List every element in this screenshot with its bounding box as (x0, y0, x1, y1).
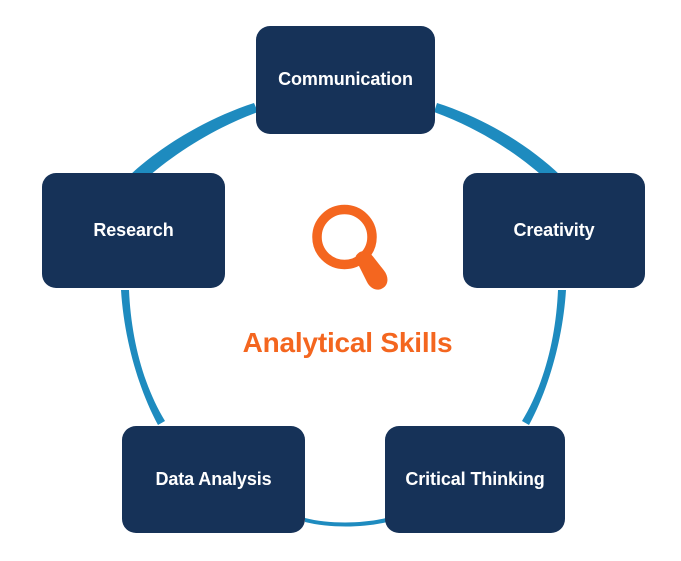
node-creativity[interactable]: Creativity (463, 173, 645, 288)
node-creativity-label: Creativity (513, 221, 594, 241)
node-data-analysis[interactable]: Data Analysis (122, 426, 305, 533)
magnifier-icon (306, 198, 392, 294)
connector-critical-to-data-analysis (305, 518, 387, 527)
connector-research-to-communication (130, 103, 258, 184)
node-communication[interactable]: Communication (256, 26, 435, 134)
connector-communication-to-creativity (434, 103, 561, 184)
node-research-label: Research (93, 221, 173, 241)
node-research[interactable]: Research (42, 173, 225, 288)
node-critical-thinking[interactable]: Critical Thinking (385, 426, 565, 533)
node-communication-label: Communication (278, 70, 413, 90)
center-title-text: Analytical Skills (243, 327, 453, 359)
center-title: Analytical Skills (0, 327, 681, 359)
node-critical-thinking-label: Critical Thinking (405, 470, 544, 490)
node-data-analysis-label: Data Analysis (155, 470, 271, 490)
analytical-skills-cycle-diagram: Analytical Skills Communication Creativi… (0, 0, 681, 561)
